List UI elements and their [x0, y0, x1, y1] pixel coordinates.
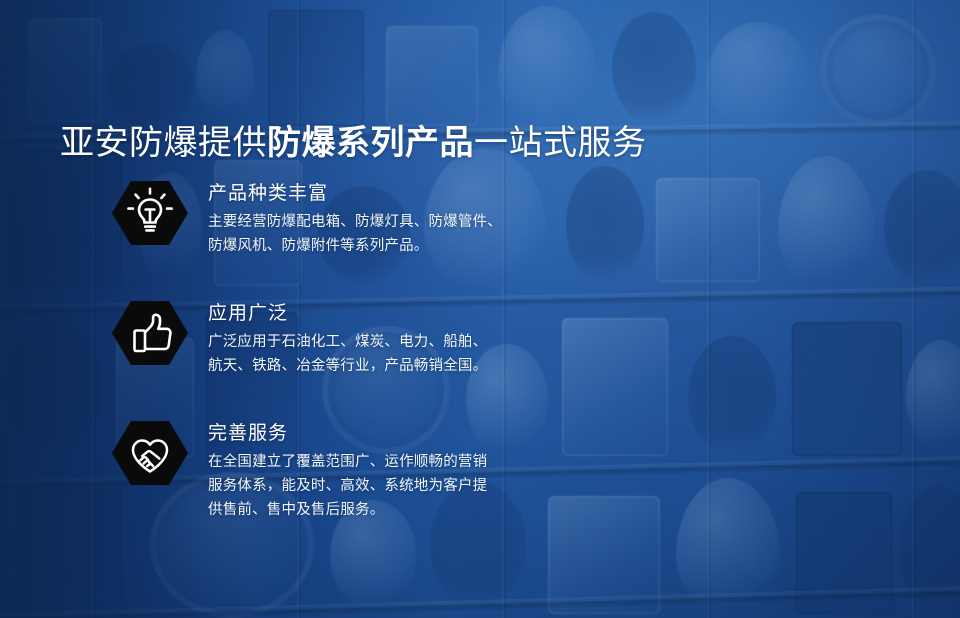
heart-handshake-icon [112, 415, 188, 491]
promo-banner: 亚安防爆提供防爆系列产品一站式服务 [0, 0, 960, 618]
banner-content: 亚安防爆提供防爆系列产品一站式服务 [0, 0, 960, 618]
banner-headline: 亚安防爆提供防爆系列产品一站式服务 [60, 121, 647, 165]
feature-title: 产品种类丰富 [208, 181, 502, 207]
feature-item: 完善服务 在全国建立了覆盖范围广、运作顺畅的营销 服务体系，能及时、高效、系统地… [0, 415, 487, 522]
feature-text: 产品种类丰富 主要经营防爆配电箱、防爆灯具、防爆管件、 防爆风机、防爆附件等系列… [208, 175, 502, 258]
feature-text: 应用广泛 广泛应用于石油化工、煤炭、电力、船舶、 航天、铁路、冶金等行业，产品畅… [208, 295, 487, 378]
lightbulb-icon [112, 175, 188, 251]
feature-item: 应用广泛 广泛应用于石油化工、煤炭、电力、船舶、 航天、铁路、冶金等行业，产品畅… [0, 295, 487, 378]
feature-title: 应用广泛 [208, 301, 487, 327]
headline-lead: 亚安防爆提供 [60, 124, 267, 162]
thumbs-up-icon [112, 295, 188, 371]
feature-description: 在全国建立了覆盖范围广、运作顺畅的营销 服务体系，能及时、高效、系统地为客户提 … [208, 450, 487, 522]
headline-emphasis: 防爆系列产品 [267, 124, 474, 162]
feature-description: 主要经营防爆配电箱、防爆灯具、防爆管件、 防爆风机、防爆附件等系列产品。 [208, 210, 502, 258]
headline-tail: 一站式服务 [474, 124, 647, 162]
feature-title: 完善服务 [208, 421, 487, 447]
feature-description: 广泛应用于石油化工、煤炭、电力、船舶、 航天、铁路、冶金等行业，产品畅销全国。 [208, 330, 487, 378]
feature-text: 完善服务 在全国建立了覆盖范围广、运作顺畅的营销 服务体系，能及时、高效、系统地… [208, 415, 487, 522]
feature-item: 产品种类丰富 主要经营防爆配电箱、防爆灯具、防爆管件、 防爆风机、防爆附件等系列… [0, 175, 502, 258]
